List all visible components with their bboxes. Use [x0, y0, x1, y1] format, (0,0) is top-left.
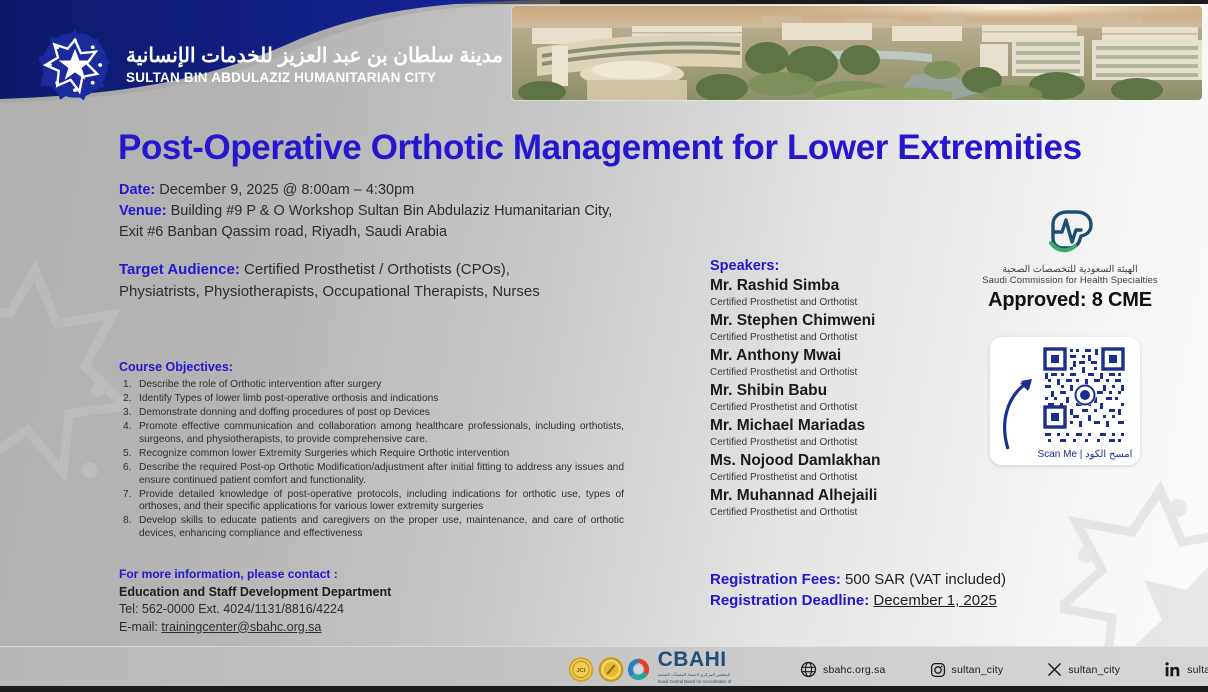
scfhs-hand-pulse-logo-icon	[1041, 208, 1099, 256]
fees-value: 500 SAR (VAT included)	[845, 571, 1006, 588]
contact-block: For more information, please contact : E…	[119, 566, 391, 636]
accreditation-name-arabic: الهيئة السعودية للتخصصات الصحية	[975, 264, 1165, 275]
speaker-role: Certified Prosthetist and Orthotist	[710, 365, 960, 380]
speaker-role: Certified Prosthetist and Orthotist	[710, 470, 960, 485]
date-value: December 9, 2025 @ 8:00am – 4:30pm	[159, 182, 414, 198]
contact-tel: Tel: 562-0000 Ext. 4024/1131/8816/4224	[119, 601, 391, 619]
organization-logo: مدينة سلطان بن عبد العزيز للخدمات الإنسا…	[38, 28, 503, 102]
cbahi-subtitle-arabic: المجلس المركزي لاعتماد المنشآت الصحية	[658, 672, 748, 677]
jci-gold-seal-icon: JCI	[568, 653, 594, 686]
list-item: Identify Types of lower limb post-operat…	[119, 393, 624, 406]
x-label: sultan_city	[1068, 664, 1120, 676]
list-item: Promote effective communication and coll…	[119, 421, 624, 446]
speaker-name: Mr. Anthony Mwai	[710, 346, 960, 365]
qr-caption: Scan Me | امسح الكود	[1038, 449, 1133, 460]
email-label: E-mail:	[119, 620, 158, 634]
date-label: Date:	[119, 182, 155, 198]
speaker-name: Mr. Michael Mariadas	[710, 416, 960, 435]
registration-block: Registration Fees: 500 SAR (VAT included…	[710, 569, 1006, 611]
speaker-name: Mr. Shibin Babu	[710, 381, 960, 400]
contact-email-row: E-mail: trainingcenter@sbahc.org.sa	[119, 619, 391, 637]
cbahi-swirl-logo-icon	[626, 653, 652, 686]
list-item: Ms. Nojood Damlakhan Certified Prostheti…	[710, 451, 960, 485]
deadline-value: December 1, 2025	[873, 592, 996, 609]
speaker-name: Mr. Stephen Chimweni	[710, 311, 960, 330]
venue-label: Venue:	[119, 203, 167, 219]
speakers-section: Speakers: Mr. Rashid Simba Certified Pro…	[710, 258, 960, 521]
poster-header: مدينة سلطان بن عبد العزيز للخدمات الإنسا…	[0, 0, 1208, 106]
list-item: Describe the role of Orthotic interventi…	[119, 379, 624, 392]
page-title: Post-Operative Orthotic Management for L…	[118, 128, 1082, 168]
linkedin-label: sultan_city	[1187, 664, 1208, 676]
linkedin-icon	[1164, 661, 1181, 678]
accreditation-block: الهيئة السعودية للتخصصات الصحية Saudi Co…	[975, 208, 1165, 312]
qr-code-card[interactable]: Scan Me | امسح الكود	[990, 337, 1140, 465]
instagram-link[interactable]: sultan_city	[930, 662, 1004, 678]
star-watermark-left	[0, 250, 130, 510]
list-item: Mr. Shibin Babu Certified Prosthetist an…	[710, 381, 960, 415]
cbahi-logo-block: CBAHI المجلس المركزي لاعتماد المنشآت الص…	[626, 649, 748, 690]
speaker-role: Certified Prosthetist and Orthotist	[710, 435, 960, 450]
objectives-list: Describe the role of Orthotic interventi…	[119, 379, 624, 541]
registration-fees-row: Registration Fees: 500 SAR (VAT included…	[710, 569, 1006, 590]
event-meta: Date: December 9, 2025 @ 8:00am – 4:30pm…	[119, 180, 612, 243]
speaker-role: Certified Prosthetist and Orthotist	[710, 505, 960, 520]
audience-line1: Certified Prosthetist / Orthotists (CPOs…	[244, 261, 510, 278]
svg-text:JCI: JCI	[576, 668, 585, 674]
contact-department: Education and Staff Development Departme…	[119, 584, 391, 602]
deadline-label: Registration Deadline:	[710, 592, 869, 609]
speaker-role: Certified Prosthetist and Orthotist	[710, 330, 960, 345]
list-item: Mr. Rashid Simba Certified Prosthetist a…	[710, 276, 960, 310]
objectives-heading: Course Objectives:	[119, 360, 624, 374]
audience-label: Target Audience:	[119, 261, 240, 278]
list-item: Recognize common lower Extremity Surgeri…	[119, 448, 624, 461]
course-objectives: Course Objectives: Describe the role of …	[119, 360, 624, 542]
linkedin-link[interactable]: sultan_city	[1164, 661, 1208, 678]
website-label: sbahc.org.sa	[823, 664, 886, 676]
eight-point-star-logo-icon	[38, 28, 112, 102]
bottom-accent-bar	[0, 686, 1208, 692]
campus-banner-image	[512, 6, 1202, 100]
list-item: Develop skills to educate patients and c…	[119, 515, 624, 540]
instagram-label: sultan_city	[952, 664, 1004, 676]
event-date-row: Date: December 9, 2025 @ 8:00am – 4:30pm	[119, 180, 612, 201]
audience-line2: Physiatrists, Physiotherapists, Occupati…	[119, 281, 540, 303]
cme-credits: Approved: 8 CME	[975, 289, 1165, 312]
list-item: Mr. Muhannad Alhejaili Certified Prosthe…	[710, 486, 960, 520]
accreditation-name-english: Saudi Commission for Health Specialties	[975, 275, 1165, 286]
website-link[interactable]: sbahc.org.sa	[800, 661, 886, 678]
target-audience: Target Audience: Certified Prosthetist /…	[119, 259, 540, 303]
event-venue-row: Venue: Building #9 P & O Workshop Sultan…	[119, 201, 612, 222]
speakers-heading: Speakers:	[710, 258, 960, 274]
venue-value: Building #9 P & O Workshop Sultan Bin Ab…	[171, 203, 613, 219]
org-name-english: SULTAN BIN ABDULAZIZ HUMANITARIAN CITY	[126, 70, 503, 85]
speaker-role: Certified Prosthetist and Orthotist	[710, 400, 960, 415]
list-item: Mr. Stephen Chimweni Certified Prostheti…	[710, 311, 960, 345]
email-link[interactable]: trainingcenter@sbahc.org.sa	[161, 620, 321, 634]
list-item: Mr. Anthony Mwai Certified Prosthetist a…	[710, 346, 960, 380]
speaker-name: Mr. Muhannad Alhejaili	[710, 486, 960, 505]
list-item: Describe the required Post-op Orthotic M…	[119, 462, 624, 487]
speaker-role: Certified Prosthetist and Orthotist	[710, 295, 960, 310]
x-twitter-icon	[1047, 662, 1062, 677]
x-twitter-link[interactable]: sultan_city	[1047, 662, 1120, 677]
contact-heading: For more information, please contact :	[119, 566, 391, 584]
list-item: Provide detailed knowledge of post-opera…	[119, 489, 624, 514]
gold-medal-seal-icon	[598, 653, 624, 686]
registration-deadline-row: Registration Deadline: December 1, 2025	[710, 590, 1006, 611]
event-poster: مدينة سلطان بن عبد العزيز للخدمات الإنسا…	[0, 0, 1208, 692]
org-name-arabic: مدينة سلطان بن عبد العزيز للخدمات الإنسا…	[126, 45, 503, 68]
cbahi-name: CBAHI	[658, 649, 748, 670]
globe-icon	[800, 661, 817, 678]
list-item: Mr. Michael Mariadas Certified Prostheti…	[710, 416, 960, 450]
list-item: Demonstrate donning and doffing procedur…	[119, 407, 624, 420]
speaker-name: Ms. Nojood Damlakhan	[710, 451, 960, 470]
instagram-icon	[930, 662, 946, 678]
speaker-name: Mr. Rashid Simba	[710, 276, 960, 295]
venue-value-line2: Exit #6 Banban Qassim road, Riyadh, Saud…	[119, 222, 612, 243]
fees-label: Registration Fees:	[710, 571, 841, 588]
